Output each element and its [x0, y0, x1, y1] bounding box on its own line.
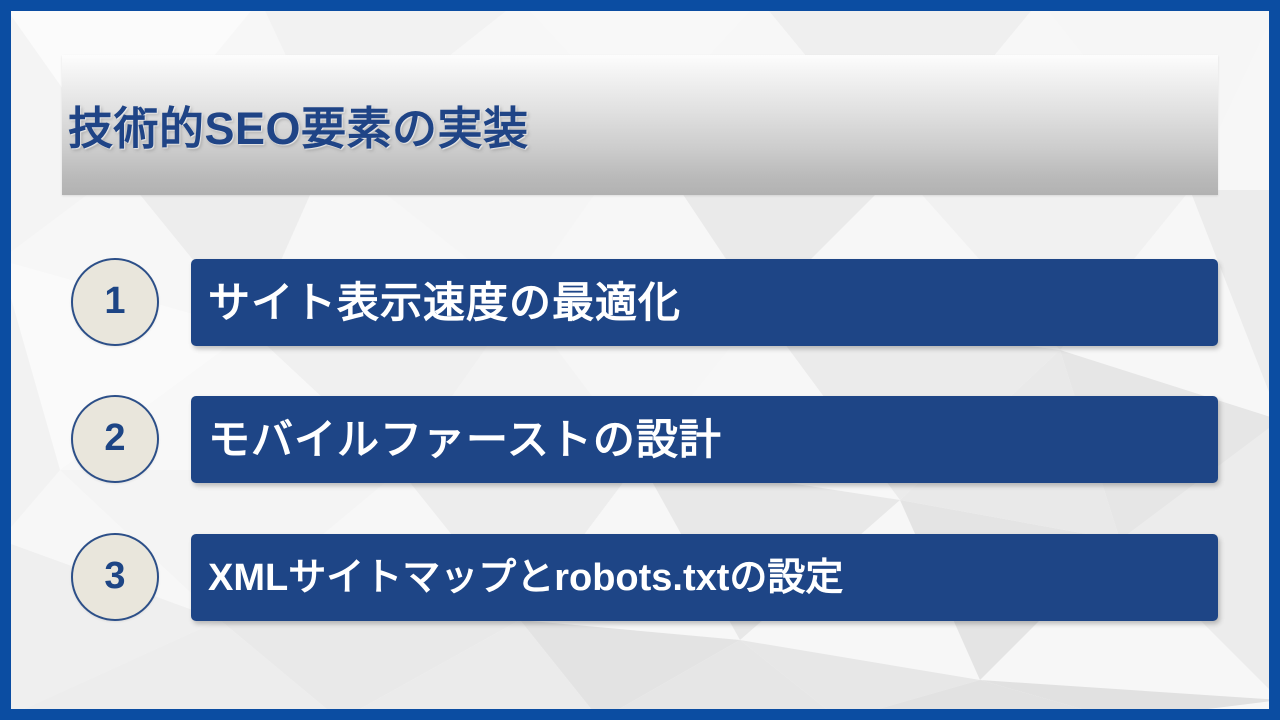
list-item: 3 XMLサイトマップとrobots.txtの設定	[0, 529, 1280, 625]
step-label-3: XMLサイトマップとrobots.txtの設定	[208, 559, 843, 597]
step-bar-2[interactable]: モバイルファーストの設計	[191, 396, 1218, 483]
step-number-3: 3	[104, 557, 125, 595]
step-number-badge-1: 1	[71, 258, 159, 346]
list-item: 2 モバイルファーストの設計	[0, 391, 1280, 487]
list-item: 1 サイト表示速度の最適化	[0, 254, 1280, 350]
step-label-2: モバイルファーストの設計	[208, 419, 722, 461]
slide-canvas: 技術的SEO要素の実装 1 サイト表示速度の最適化 2 モバイルファーストの設計…	[0, 0, 1280, 720]
step-number-badge-2: 2	[71, 395, 159, 483]
step-number-2: 2	[104, 419, 125, 457]
step-number-badge-3: 3	[71, 533, 159, 621]
step-bar-1[interactable]: サイト表示速度の最適化	[191, 259, 1218, 346]
step-number-1: 1	[104, 282, 125, 320]
page-title: 技術的SEO要素の実装	[68, 92, 529, 157]
step-label-1: サイト表示速度の最適化	[208, 282, 681, 324]
step-bar-3[interactable]: XMLサイトマップとrobots.txtの設定	[191, 534, 1218, 621]
